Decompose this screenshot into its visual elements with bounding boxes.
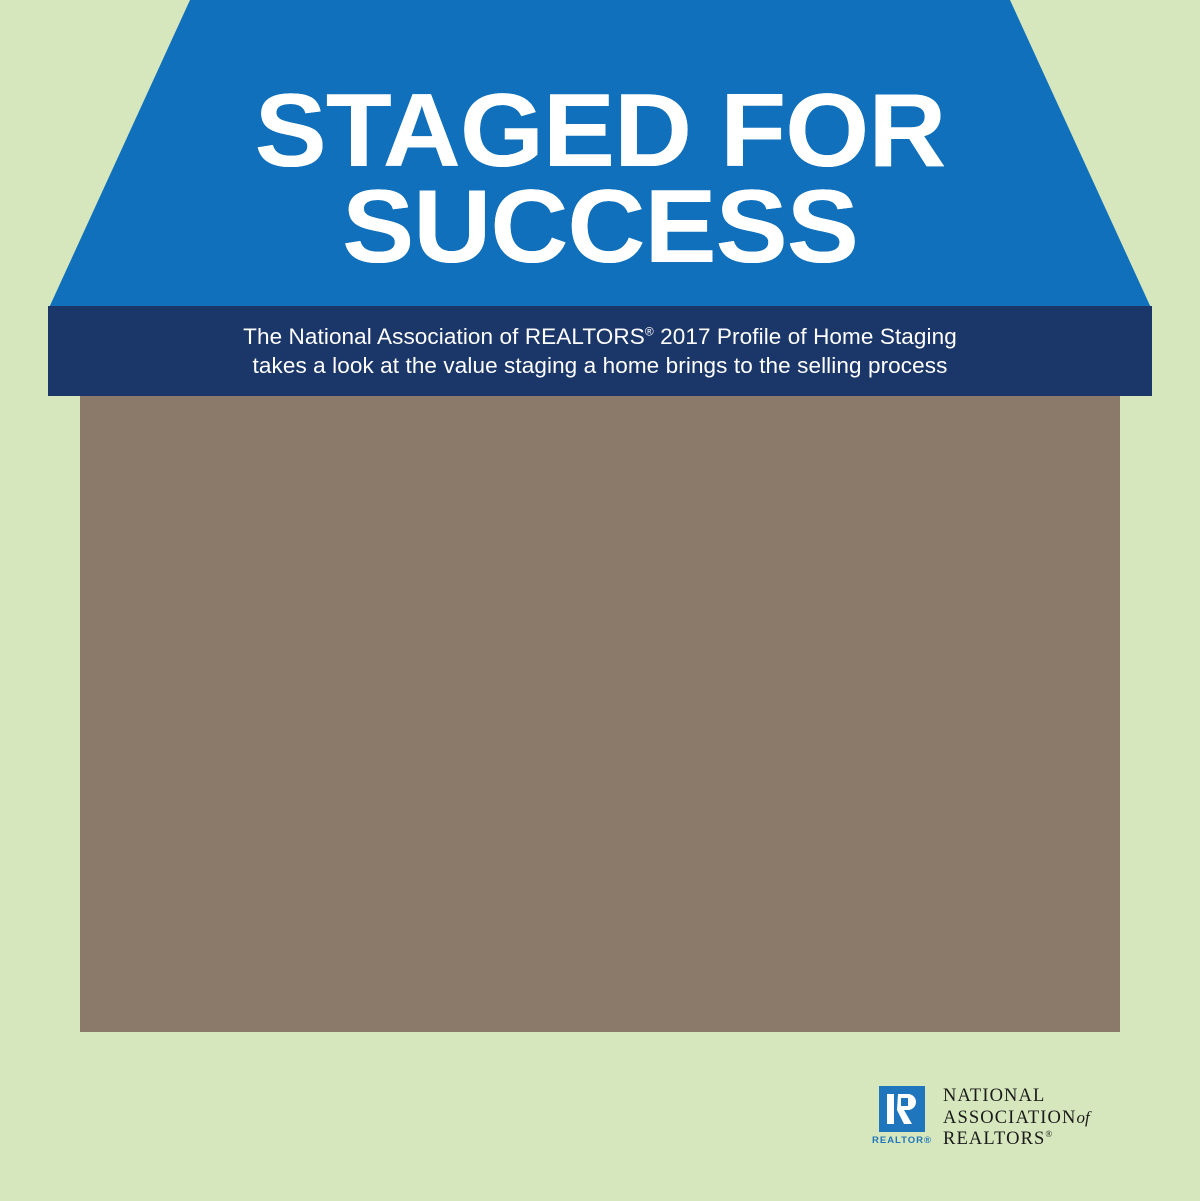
subtitle-line-1: The National Association of REALTORS® 20… (243, 323, 957, 350)
logo-of: of (1076, 1108, 1089, 1127)
realtor-r-icon (879, 1086, 925, 1132)
realtor-mark: REALTOR® (872, 1086, 932, 1146)
logo-line-2-row: ASSOCIATIONof (943, 1108, 1090, 1130)
registered-mark: ® (645, 324, 654, 338)
subtitle-text-post: 2017 Profile of Home Staging (654, 324, 957, 349)
logo-line-2: ASSOCIATION (943, 1108, 1076, 1128)
subtitle-band: The National Association of REALTORS® 20… (48, 306, 1152, 396)
page-title: STAGED FOR SUCCESS (0, 84, 1200, 275)
roof-section: STAGED FOR SUCCESS (0, 0, 1200, 310)
subtitle-line-2: takes a look at the value staging a home… (253, 352, 948, 379)
nar-logo: REALTOR® NATIONAL ASSOCIATIONof REALTORS… (872, 1086, 1090, 1151)
logo-line-1: NATIONAL (943, 1086, 1090, 1108)
title-line-1: STAGED FOR (0, 84, 1200, 180)
title-line-2: SUCCESS (0, 180, 1200, 276)
subtitle-text-pre: The National Association of REALTORS (243, 324, 645, 349)
realtor-wordmark: REALTOR® (872, 1135, 932, 1146)
infographic-root: STAGED FOR SUCCESS The National Associat… (0, 0, 1200, 1201)
house-body (80, 394, 1120, 1032)
logo-line-3: REALTORS (943, 1129, 1045, 1149)
logo-registered-mark: ® (1045, 1129, 1053, 1139)
logo-line-3-row: REALTORS® (943, 1129, 1090, 1151)
nar-logo-text: NATIONAL ASSOCIATIONof REALTORS® (943, 1086, 1090, 1151)
